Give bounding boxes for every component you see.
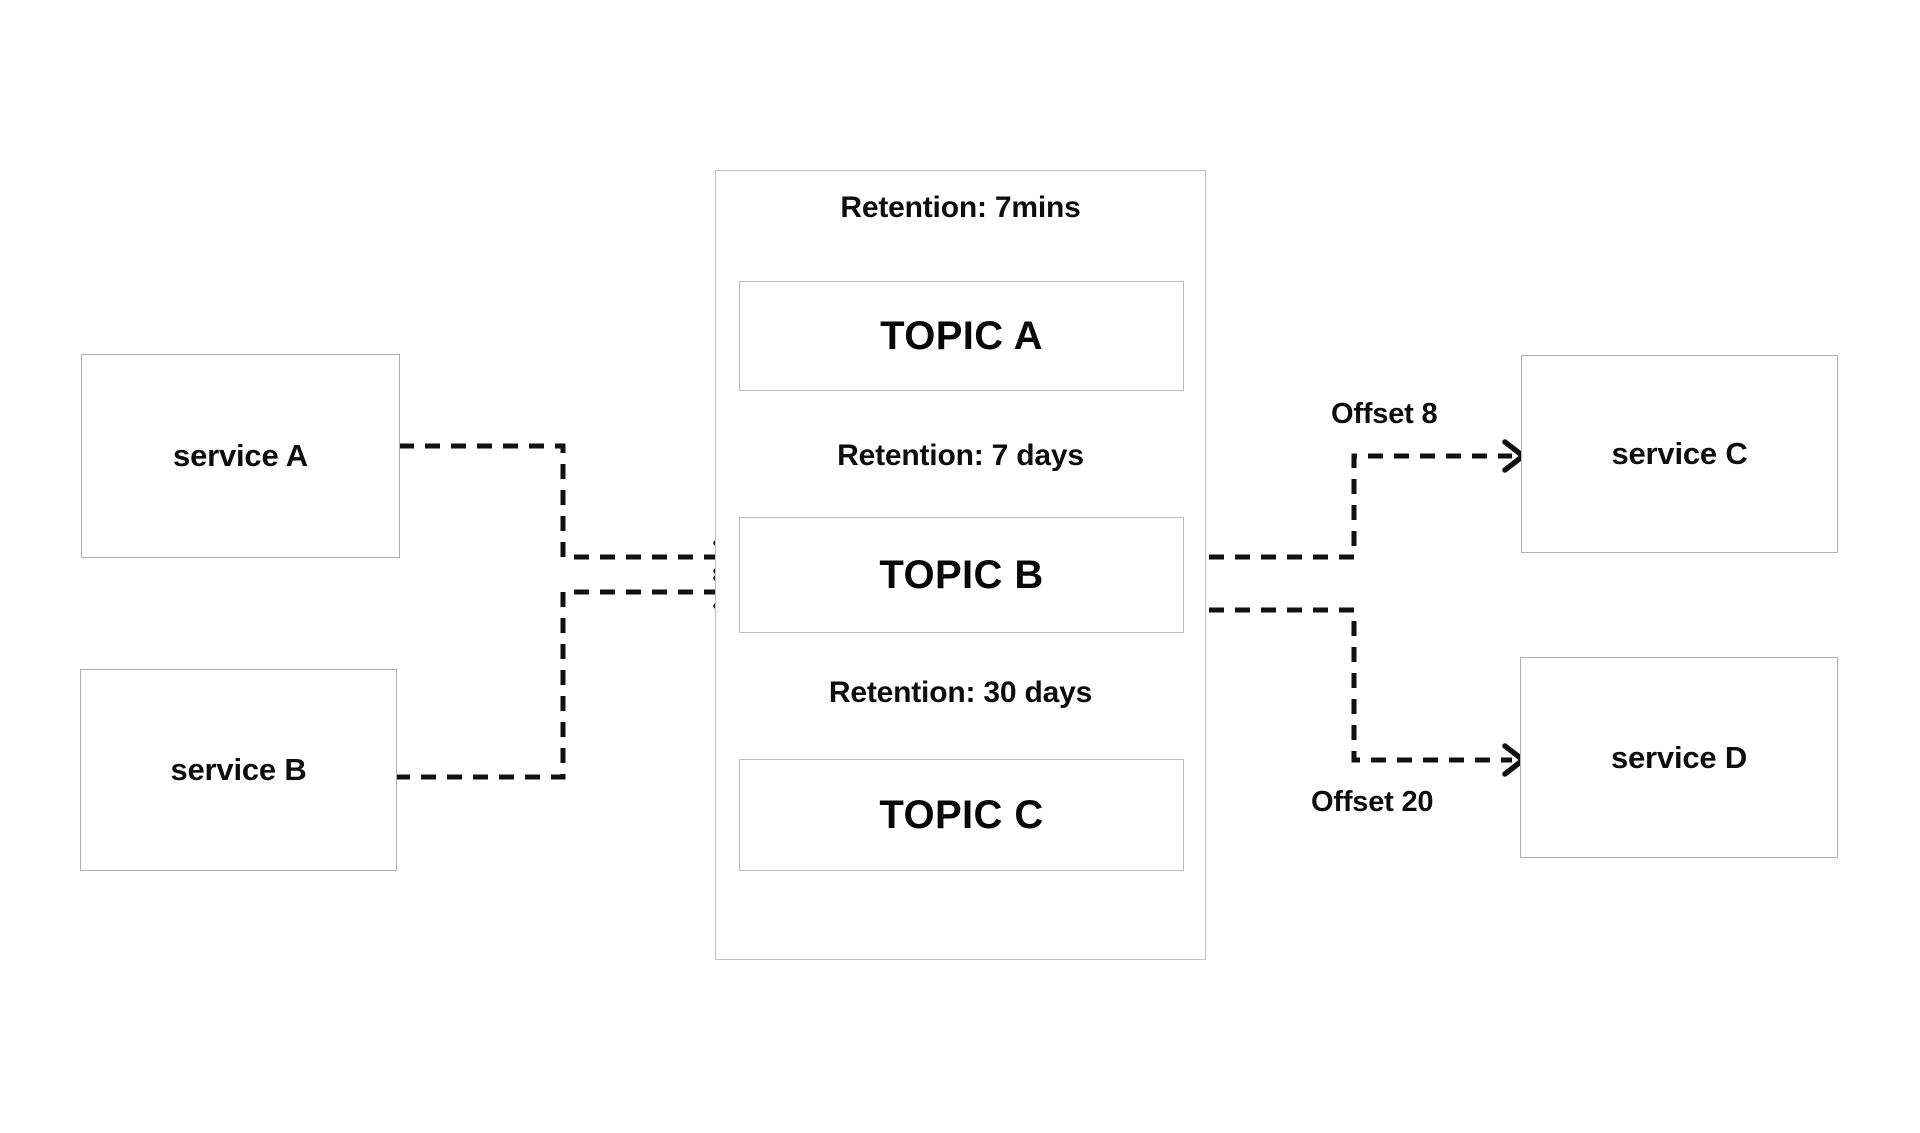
connector-topic-b-to-service-d	[1183, 610, 1512, 760]
service-d-box[interactable]: service D	[1520, 657, 1838, 858]
connector-service-b-to-topic-b	[395, 592, 723, 777]
service-a-box[interactable]: service A	[81, 354, 400, 558]
topic-b-box[interactable]: TOPIC B	[739, 517, 1184, 633]
service-c-label: service C	[1611, 436, 1747, 472]
connector-topic-b-to-service-c	[1183, 456, 1512, 557]
service-b-label: service B	[170, 752, 306, 788]
service-d-label: service D	[1611, 740, 1747, 776]
topic-c-label: TOPIC C	[879, 793, 1043, 838]
topic-a-label: TOPIC A	[880, 314, 1043, 359]
topic-b-retention-label: Retention: 7 days	[716, 439, 1205, 473]
service-a-label: service A	[173, 438, 308, 474]
offset-20-label: Offset 20	[1311, 786, 1433, 819]
service-b-box[interactable]: service B	[80, 669, 397, 871]
connector-service-a-to-topic-b	[399, 446, 723, 557]
topic-c-box[interactable]: TOPIC C	[739, 759, 1184, 871]
diagram-canvas: service A service B Retention: 7mins TOP…	[0, 0, 1920, 1133]
topic-b-label: TOPIC B	[879, 553, 1043, 598]
kafka-cluster-container: Retention: 7mins TOPIC A Retention: 7 da…	[715, 170, 1206, 960]
service-c-box[interactable]: service C	[1521, 355, 1838, 553]
topic-a-box[interactable]: TOPIC A	[739, 281, 1184, 391]
offset-8-label: Offset 8	[1331, 398, 1437, 431]
topic-a-retention-label: Retention: 7mins	[716, 191, 1205, 225]
topic-c-retention-label: Retention: 30 days	[716, 676, 1205, 710]
